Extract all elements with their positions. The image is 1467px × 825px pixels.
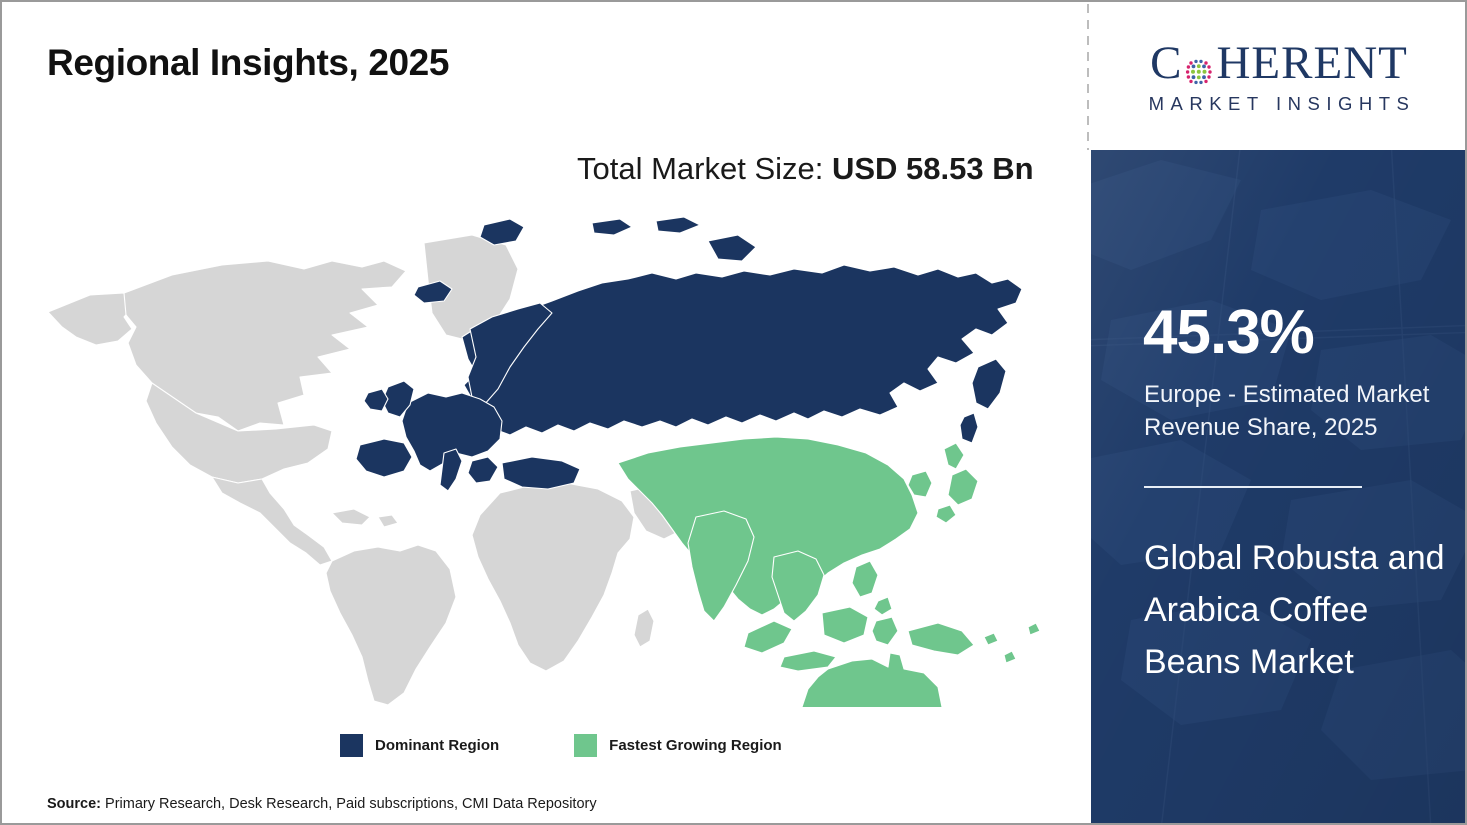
map-region-fastest-growing — [618, 437, 1040, 707]
left-panel: Regional Insights, 2025 Total Market Siz… — [2, 2, 1087, 825]
legend-label-fastest-growing: Fastest Growing Region — [609, 737, 782, 754]
total-market-size: Total Market Size: USD 58.53 Bn — [577, 148, 1037, 191]
total-market-size-value: USD 58.53 Bn — [832, 151, 1034, 186]
source-label: Source: — [47, 796, 101, 812]
brand-logo-subtitle: MARKET INSIGHTS — [1114, 93, 1444, 115]
brand-logo-word-before: C — [1150, 40, 1182, 87]
world-map — [32, 217, 1052, 707]
legend-item-fastest-growing: Fastest Growing Region — [574, 734, 782, 757]
page-title: Regional Insights, 2025 — [47, 42, 449, 84]
globe-dots-icon — [1183, 50, 1215, 82]
legend-item-dominant: Dominant Region — [340, 734, 499, 757]
brand-logo-word-after: HERENT — [1216, 40, 1407, 87]
brand-logo: C — [1091, 4, 1467, 150]
globe-dots-icon-svg — [1183, 56, 1215, 88]
stat-value: 45.3% — [1143, 302, 1314, 364]
source-note: Source: Primary Research, Desk Research,… — [47, 796, 597, 812]
panel-divider-rule — [1144, 486, 1362, 488]
brand-logo-inner: C — [1114, 40, 1444, 115]
legend-swatch-fastest-growing-icon — [574, 734, 597, 757]
source-text: Primary Research, Desk Research, Paid su… — [101, 796, 597, 812]
world-map-svg — [32, 217, 1052, 707]
total-market-size-label: Total Market Size: — [577, 151, 832, 186]
vertical-dashed-divider — [1087, 4, 1089, 150]
stat-description: Europe - Estimated Market Revenue Share,… — [1144, 378, 1456, 444]
brand-logo-wordmark: C — [1114, 40, 1444, 87]
right-panel-content: 45.3% Europe - Estimated Market Revenue … — [1091, 150, 1467, 825]
legend-label-dominant: Dominant Region — [375, 737, 499, 754]
infographic-canvas: Regional Insights, 2025 Total Market Siz… — [0, 0, 1467, 825]
map-legend: Dominant Region Fastest Growing Region — [340, 734, 782, 757]
legend-swatch-dominant-icon — [340, 734, 363, 757]
right-panel: 45.3% Europe - Estimated Market Revenue … — [1091, 150, 1467, 825]
report-title: Global Robusta andArabica CoffeeBeans Ma… — [1144, 532, 1454, 688]
